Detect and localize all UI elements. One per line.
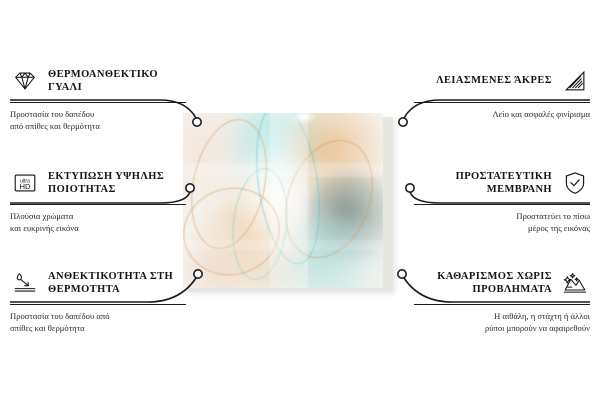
feature-header: ΠΡΟΣΤΑΤΕΥΤΙΚΗ ΜΕΜΒΡΑΝΗ xyxy=(414,166,590,200)
ink-texture xyxy=(183,113,383,288)
feature-polished-edges: ΛΕΙΑΣΜΕΝΕΣ ΆΚΡΕΣ Λείο και ασφαλές φινίρι… xyxy=(414,64,590,120)
feature-header: ultra HD ΕΚΤΥΠΩΣΗ ΥΨΗΛΗΣ ΠΟΙΟΤΗΤΑΣ xyxy=(10,166,186,200)
feature-divider xyxy=(414,304,590,305)
feature-title: ΑΝΘΕΚΤΙΚΟΤΗΤΑ ΣΤΗ ΘΕΡΜΟΤΗΤΑ xyxy=(48,270,186,297)
ultra-hd-icon: ultra HD xyxy=(10,168,40,198)
feature-heat-resistant-glass: ΘΕΡΜΟΑΝΘΕΚΤΙΚΟ ΓΥΑΛΙ Προστασία του δαπέδ… xyxy=(10,64,186,132)
feature-description: Προστασία του δαπέδου από σπίθες και θερ… xyxy=(10,108,186,132)
feature-heat-resistance: ΑΝΘΕΚΤΙΚΟΤΗΤΑ ΣΤΗ ΘΕΡΜΟΤΗΤΑ Προστασία το… xyxy=(10,266,186,334)
diamond-icon xyxy=(10,66,40,96)
feature-divider xyxy=(414,102,590,103)
product-image xyxy=(183,113,388,288)
feature-divider xyxy=(414,204,590,205)
connector-dot-right-3 xyxy=(398,270,406,278)
feature-title: ΚΑΘΑΡΙΣΜΟΣ ΧΩΡΙΣ ΠΡΟΒΛΗΜΑΤΑ xyxy=(414,270,552,297)
feature-divider xyxy=(10,204,186,205)
feature-title: ΕΚΤΥΠΩΣΗ ΥΨΗΛΗΣ ΠΟΙΟΤΗΤΑΣ xyxy=(48,170,186,197)
feature-description: Προστατεύει το πίσω μέρος της εικόνας xyxy=(414,210,590,234)
feature-title: ΛΕΙΑΣΜΕΝΕΣ ΆΚΡΕΣ xyxy=(414,74,552,87)
svg-text:HD: HD xyxy=(19,182,31,191)
feature-header: ΛΕΙΑΣΜΕΝΕΣ ΆΚΡΕΣ xyxy=(414,64,590,98)
feature-description: Η αιθάλη, η στάχτη ή άλλοι ρύποι μπορούν… xyxy=(414,310,590,334)
feature-description: Λείο και ασφαλές φινίρισμα xyxy=(414,108,590,120)
feature-header: ΘΕΡΜΟΑΝΘΕΚΤΙΚΟ ΓΥΑΛΙ xyxy=(10,64,186,98)
feature-easy-cleaning: ΚΑΘΑΡΙΣΜΟΣ ΧΩΡΙΣ ΠΡΟΒΛΗΜΑΤΑ Η αιθάλη, η … xyxy=(414,266,590,334)
connector-dot-right-2 xyxy=(406,184,414,192)
cleaning-cloth-sparkle-icon xyxy=(560,268,590,298)
feature-title: ΘΕΡΜΟΑΝΘΕΚΤΙΚΟ ΓΥΑΛΙ xyxy=(48,68,186,95)
connector-dot-right-1 xyxy=(399,118,407,126)
feature-divider xyxy=(10,102,186,103)
feature-description: Προστασία του δαπέδου από σπίθες και θερ… xyxy=(10,310,186,334)
infographic-stage: ΘΕΡΜΟΑΝΘΕΚΤΙΚΟ ΓΥΑΛΙ Προστασία του δαπέδ… xyxy=(0,0,600,400)
heat-resistance-icon xyxy=(10,268,40,298)
feature-description: Πλούσια χρώματα και ευκρινής εικόνα xyxy=(10,210,186,234)
polished-edges-icon xyxy=(560,66,590,96)
feature-header: ΑΝΘΕΚΤΙΚΟΤΗΤΑ ΣΤΗ ΘΕΡΜΟΤΗΤΑ xyxy=(10,266,186,300)
feature-divider xyxy=(10,304,186,305)
product-glass-panel xyxy=(183,113,383,288)
feature-protective-membrane: ΠΡΟΣΤΑΤΕΥΤΙΚΗ ΜΕΜΒΡΑΝΗ Προστατεύει το πί… xyxy=(414,166,590,234)
feature-title: ΠΡΟΣΤΑΤΕΥΤΙΚΗ ΜΕΜΒΡΑΝΗ xyxy=(414,170,552,197)
shield-check-icon xyxy=(560,168,590,198)
feature-high-quality-print: ultra HD ΕΚΤΥΠΩΣΗ ΥΨΗΛΗΣ ΠΟΙΟΤΗΤΑΣ Πλούσ… xyxy=(10,166,186,234)
feature-header: ΚΑΘΑΡΙΣΜΟΣ ΧΩΡΙΣ ΠΡΟΒΛΗΜΑΤΑ xyxy=(414,266,590,300)
